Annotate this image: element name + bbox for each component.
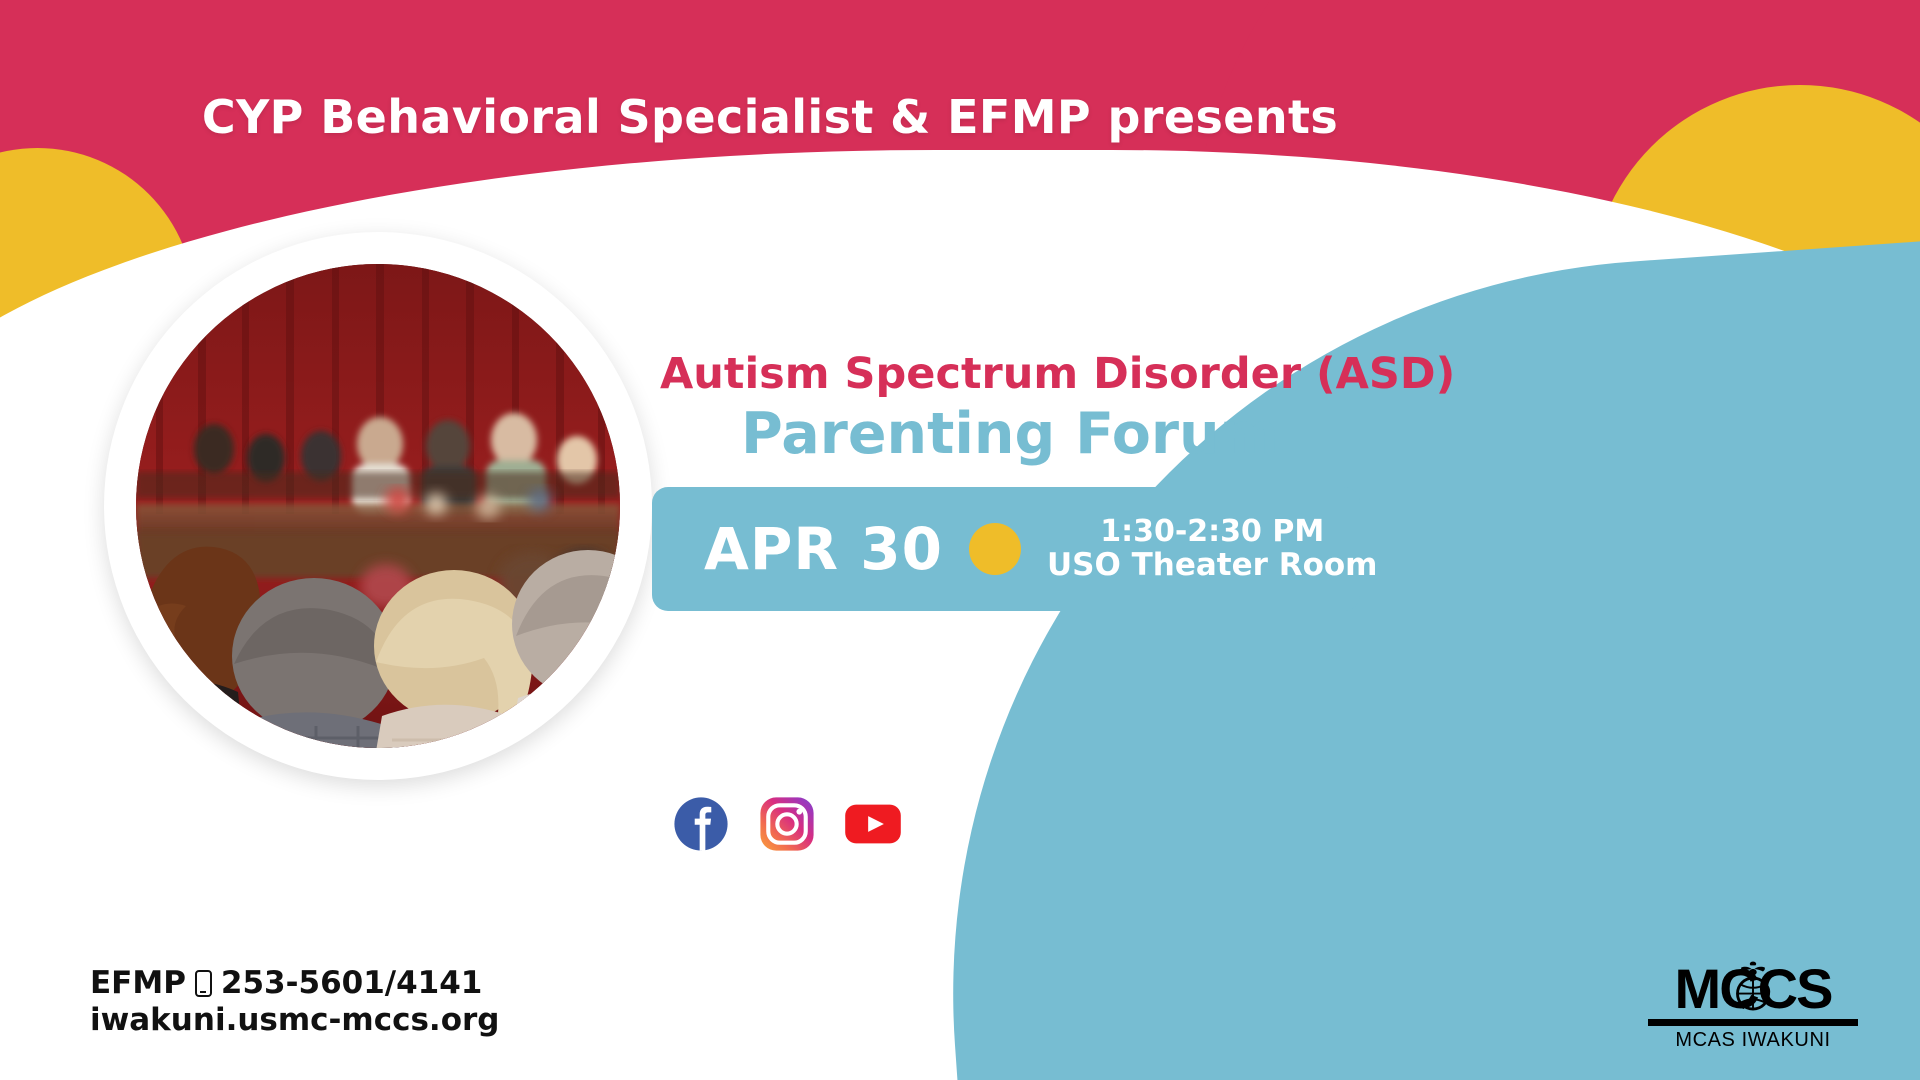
date-time-banner: APR 30 1:30-2:30 PM USO Theater Room — [652, 487, 1360, 611]
youtube-icon[interactable] — [844, 795, 902, 853]
contact-block: EFMP 253-5601/4141 iwakuni.usmc-mccs.org — [90, 965, 499, 1038]
event-date: APR 30 — [704, 515, 943, 583]
page-title: CYP Behavioral Specialist & EFMP present… — [0, 92, 1540, 143]
event-photo — [136, 264, 620, 748]
event-subject: Autism Spectrum Disorder (ASD) — [660, 352, 1360, 397]
mccs-wordmark: MCCS — [1648, 961, 1858, 1017]
time-location-block: 1:30-2:30 PM USO Theater Room — [1047, 515, 1378, 583]
event-kind: Parenting Forum — [660, 405, 1360, 465]
poster-canvas: CYP Behavioral Specialist & EFMP present… — [0, 0, 1920, 1080]
phone-icon — [195, 970, 212, 997]
website-url[interactable]: iwakuni.usmc-mccs.org — [90, 1002, 499, 1039]
event-time: 1:30-2:30 PM — [1047, 515, 1378, 549]
phone-number: 253-5601/4141 — [221, 965, 482, 1002]
event-location: USO Theater Room — [1047, 548, 1378, 583]
mccs-underline — [1648, 1019, 1858, 1026]
instagram-icon[interactable] — [758, 795, 816, 853]
contact-phone-line: EFMP 253-5601/4141 — [90, 965, 499, 1002]
mccs-logo: MCCS MCAS IWAKUNI — [1648, 961, 1858, 1052]
social-links — [672, 795, 902, 853]
eagle-globe-anchor-icon — [1722, 957, 1784, 1019]
efmp-label: EFMP — [90, 965, 186, 1002]
facebook-icon[interactable] — [672, 795, 730, 853]
mccs-installation: MCAS IWAKUNI — [1648, 1029, 1858, 1052]
separator-dot-icon — [969, 523, 1021, 575]
